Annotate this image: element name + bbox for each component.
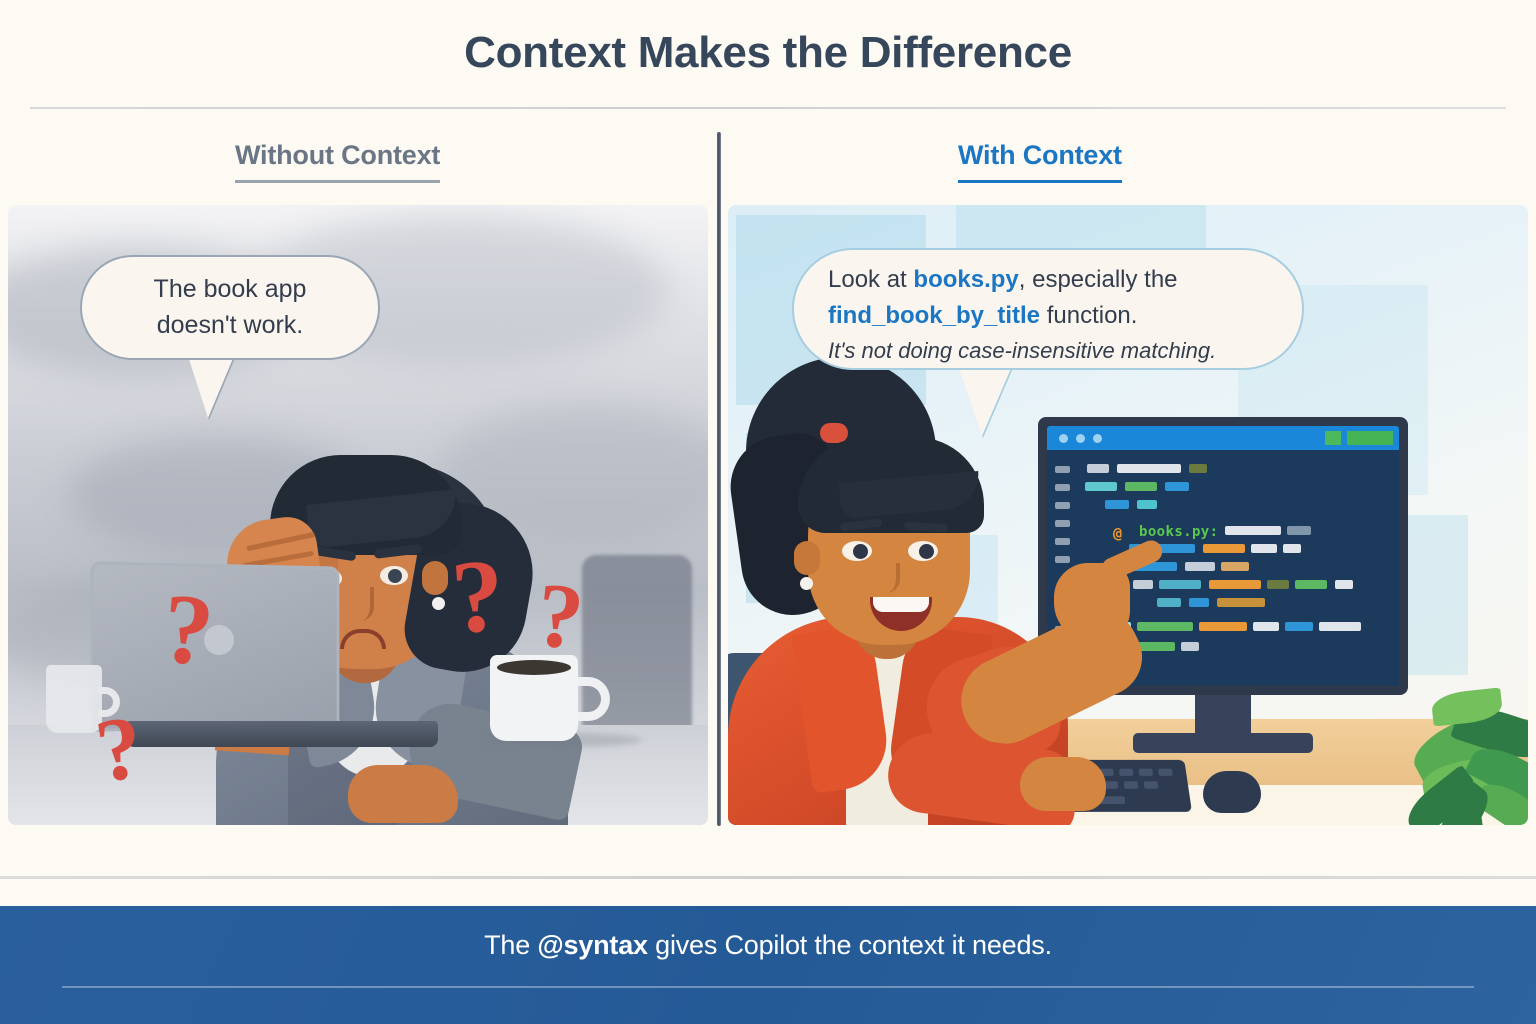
earring xyxy=(432,597,445,610)
code-reference-filename: books.py xyxy=(913,266,1018,293)
footer-divider xyxy=(0,876,1536,879)
editor-titlebar xyxy=(1047,426,1399,450)
code-token xyxy=(1295,580,1327,589)
monitor-stand-neck xyxy=(1195,691,1251,737)
infographic-page: Context Makes the Difference Without Con… xyxy=(0,0,1536,1024)
code-token xyxy=(1335,580,1353,589)
code-token xyxy=(1267,580,1289,589)
code-token xyxy=(1225,526,1281,535)
line-number xyxy=(1055,502,1070,509)
window-dot-icon xyxy=(1093,434,1102,443)
footer-banner: The @syntax gives Copilot the context it… xyxy=(0,906,1536,1024)
ear xyxy=(422,561,448,595)
bubble-line-2: doesn't work. xyxy=(82,311,378,340)
code-token xyxy=(1085,482,1117,491)
footer-syntax-highlight: @syntax xyxy=(537,930,647,960)
line-number xyxy=(1055,484,1070,491)
code-token xyxy=(1157,598,1181,607)
ear xyxy=(794,541,820,575)
footer-text: The @syntax gives Copilot the context it… xyxy=(0,930,1536,961)
line-number xyxy=(1055,556,1070,563)
speech-bubble-tail xyxy=(188,356,234,418)
pupil xyxy=(388,569,402,583)
code-token xyxy=(1137,622,1193,631)
bubble-line-2: find_book_by_title function. xyxy=(828,302,1278,330)
column-heading-without-context: Without Context xyxy=(235,140,440,183)
earring xyxy=(800,577,813,590)
bubble-line-1: The book app xyxy=(82,275,378,304)
code-token xyxy=(1159,580,1201,589)
header-divider xyxy=(30,107,1506,109)
eye-left xyxy=(842,541,872,561)
line-number xyxy=(1055,520,1070,527)
banner-accent-line xyxy=(62,986,1474,988)
question-mark-icon: ? xyxy=(532,568,587,664)
typing-hand xyxy=(348,765,458,823)
line-number xyxy=(1055,466,1070,473)
pupil xyxy=(853,544,868,559)
column-heading-with-context: With Context xyxy=(958,140,1122,183)
pupil xyxy=(919,544,934,559)
code-token xyxy=(1117,464,1181,473)
bubble-text-post: function. xyxy=(1040,302,1137,329)
code-token xyxy=(1203,544,1245,553)
question-mark-icon: ? xyxy=(159,578,218,682)
code-token xyxy=(1137,500,1157,509)
at-symbol-icon: @ xyxy=(1113,524,1121,542)
code-token xyxy=(1283,544,1301,553)
code-token xyxy=(1285,622,1313,631)
titlebar-badge xyxy=(1325,431,1341,445)
vertical-divider xyxy=(717,132,721,826)
page-title: Context Makes the Difference xyxy=(0,28,1536,78)
code-token xyxy=(1133,580,1153,589)
footer-text-pre: The xyxy=(484,930,537,960)
code-token xyxy=(1251,544,1277,553)
code-token xyxy=(1189,598,1209,607)
titlebar-badge xyxy=(1347,431,1393,445)
window-dot-icon xyxy=(1059,434,1068,443)
code-token xyxy=(1185,562,1215,571)
code-token xyxy=(1287,526,1311,535)
speech-bubble-tail xyxy=(958,366,1012,436)
footer-text-post: gives Copilot the context it needs. xyxy=(648,930,1052,960)
bubble-line-3: It's not doing case-insensitive matching… xyxy=(828,338,1278,364)
monitor-filename-label: books.py: xyxy=(1139,524,1218,540)
bubble-line-1: Look at books.py, especially the xyxy=(828,266,1278,294)
eye-right xyxy=(380,566,408,585)
mouse[interactable] xyxy=(1203,771,1261,813)
code-token xyxy=(1217,598,1265,607)
code-token xyxy=(1199,622,1247,631)
window-dot-icon xyxy=(1076,434,1085,443)
bubble-text-pre: Look at xyxy=(828,266,913,293)
code-token xyxy=(1165,482,1189,491)
hand-on-keyboard xyxy=(1020,757,1106,811)
speech-bubble-without-context: The book app doesn't work. xyxy=(80,255,380,360)
code-token xyxy=(1221,562,1249,571)
code-token xyxy=(1319,622,1361,631)
code-token xyxy=(1125,482,1157,491)
code-token xyxy=(1253,622,1279,631)
code-token xyxy=(1209,580,1261,589)
code-token xyxy=(1105,500,1129,509)
nose xyxy=(352,587,374,621)
code-token xyxy=(1181,642,1199,651)
coffee-mug xyxy=(490,655,578,741)
question-mark-icon: ? xyxy=(448,543,507,650)
laptop-base xyxy=(126,721,438,747)
speech-bubble-with-context: Look at books.py, especially the find_bo… xyxy=(792,248,1304,370)
line-number xyxy=(1055,538,1070,545)
code-token xyxy=(1087,464,1109,473)
teeth xyxy=(873,597,929,612)
code-reference-function: find_book_by_title xyxy=(828,302,1040,329)
bubble-text-post: , especially the xyxy=(1019,266,1178,293)
eye-right xyxy=(908,541,938,561)
code-token xyxy=(1189,464,1207,473)
